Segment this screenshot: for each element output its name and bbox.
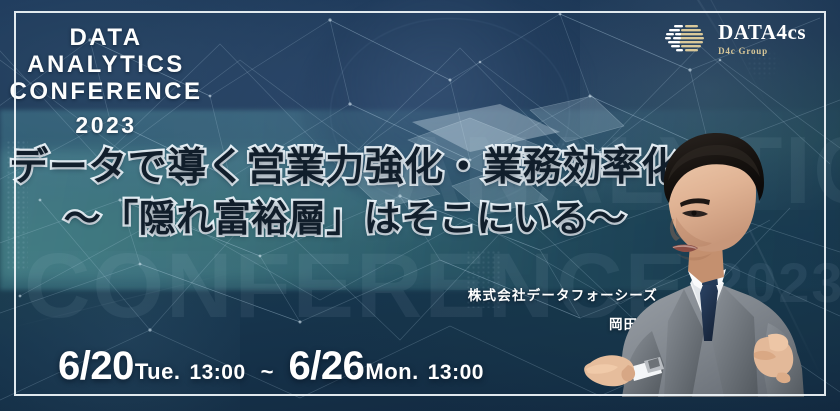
- schedule: 6/20 Tue. 13:00 ~ 6/26 Mon. 13:00: [58, 344, 484, 389]
- start-time: 13:00: [189, 361, 245, 385]
- event-logo: DATA ANALYTICS CONFERENCE 2023: [26, 14, 186, 136]
- event-logo-year: 2023: [75, 113, 136, 139]
- range-separator: ~: [261, 359, 274, 385]
- corporate-logo-text: DATA4cs D4c Group: [718, 22, 806, 56]
- speaker-photo: [572, 125, 834, 397]
- end-date: 6/26: [289, 344, 365, 389]
- start-date: 6/20: [58, 344, 134, 389]
- end-time: 13:00: [428, 361, 484, 385]
- corporate-sub: D4c Group: [718, 46, 768, 56]
- corporate-name: DATA4cs: [718, 22, 806, 43]
- conference-banner: ANALYTICS CONFERENCE 2023: [0, 0, 840, 411]
- event-logo-line1: DATA: [69, 25, 142, 52]
- start-dayofweek: Tue.: [135, 359, 181, 385]
- event-logo-line2: ANALYTICS: [27, 52, 185, 79]
- end-dayofweek: Mon.: [365, 359, 418, 385]
- corporate-logo: DATA4cs D4c Group: [665, 22, 806, 56]
- event-logo-line3: CONFERENCE: [10, 79, 203, 106]
- dashed-circle-logo-icon: [665, 22, 709, 56]
